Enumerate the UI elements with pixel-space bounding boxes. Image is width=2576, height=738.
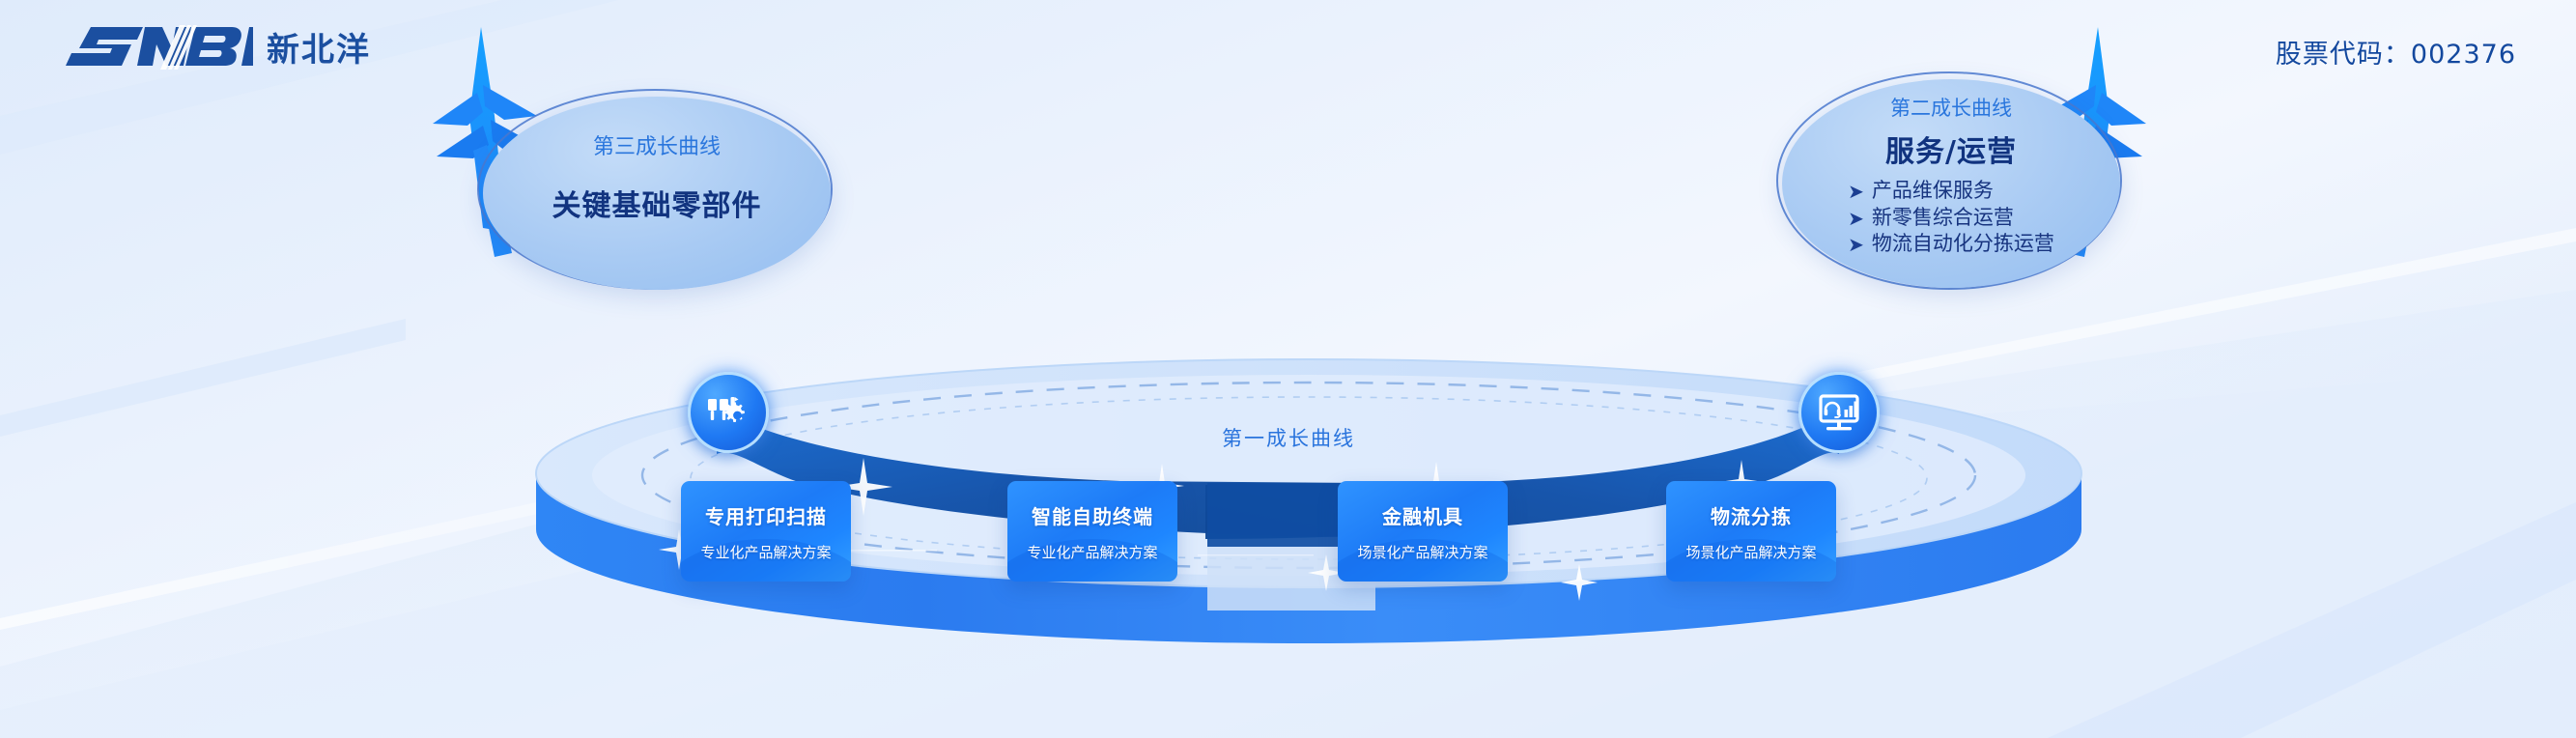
card-subtitle: 场景化产品解决方案 (1685, 542, 1816, 562)
list-item-label: 物流自动化分拣运营 (1872, 231, 2054, 258)
card-logistics-sorting[interactable]: 物流分拣 场景化产品解决方案 (1666, 481, 1836, 582)
bubble-third-growth-curve[interactable]: 第三成长曲线 关键基础零部件 (483, 97, 831, 290)
brand-logo: 新北洋 (60, 21, 371, 71)
chevron-right-icon: ➤ (1848, 235, 1864, 254)
service-monitor-glyph (1815, 388, 1863, 437)
bubble-right-title: 服务/运营 (1885, 128, 2017, 170)
card-subtitle: 专业化产品解决方案 (1027, 542, 1157, 562)
components-gear-glyph (704, 388, 752, 437)
list-item: ➤产品维保服务 (1848, 178, 2054, 205)
bubble-left-title: 关键基础零部件 (552, 182, 762, 224)
bubble-right-subtitle: 第二成长曲线 (1890, 93, 2012, 122)
card-title: 智能自助终端 (1032, 501, 1153, 529)
card-subtitle: 场景化产品解决方案 (1357, 542, 1487, 562)
card-title: 专用打印扫描 (705, 501, 827, 529)
infographic-canvas: 新北洋 股票代码：002376 第三成长曲线 关键基础零部件 第二成长曲线 服务… (0, 0, 2576, 738)
card-title: 物流分拣 (1711, 501, 1792, 529)
brand-logo-cn: 新北洋 (267, 23, 371, 71)
list-item-label: 新零售综合运营 (1872, 205, 2014, 232)
bubble-second-growth-curve[interactable]: 第二成长曲线 服务/运营 ➤产品维保服务 ➤新零售综合运营 ➤物流自动化分拣运营 (1782, 79, 2120, 288)
card-subtitle: 专业化产品解决方案 (700, 542, 831, 562)
list-item: ➤新零售综合运营 (1848, 205, 2054, 232)
chevron-right-icon: ➤ (1848, 209, 1864, 228)
service-monitor-icon[interactable] (1798, 372, 1880, 453)
snbc-logo-icon (60, 21, 253, 71)
bubble-left-subtitle: 第三成长曲线 (593, 129, 721, 160)
card-financial-equipment[interactable]: 金融机具 场景化产品解决方案 (1338, 481, 1508, 582)
stock-code-label: 股票代码：002376 (2276, 33, 2516, 71)
card-title: 金融机具 (1382, 501, 1463, 529)
chevron-right-icon: ➤ (1848, 182, 1864, 201)
card-self-service-terminal[interactable]: 智能自助终端 专业化产品解决方案 (1007, 481, 1177, 582)
card-printing-scanning[interactable]: 专用打印扫描 专业化产品解决方案 (681, 481, 851, 582)
list-item-label: 产品维保服务 (1872, 178, 1994, 205)
first-growth-curve-label: 第一成长曲线 (1222, 423, 1355, 452)
background-decoration (0, 0, 2576, 738)
list-item: ➤物流自动化分拣运营 (1848, 231, 2054, 258)
bubble-right-list: ➤产品维保服务 ➤新零售综合运营 ➤物流自动化分拣运营 (1848, 178, 2054, 258)
components-gear-icon[interactable] (688, 372, 769, 453)
